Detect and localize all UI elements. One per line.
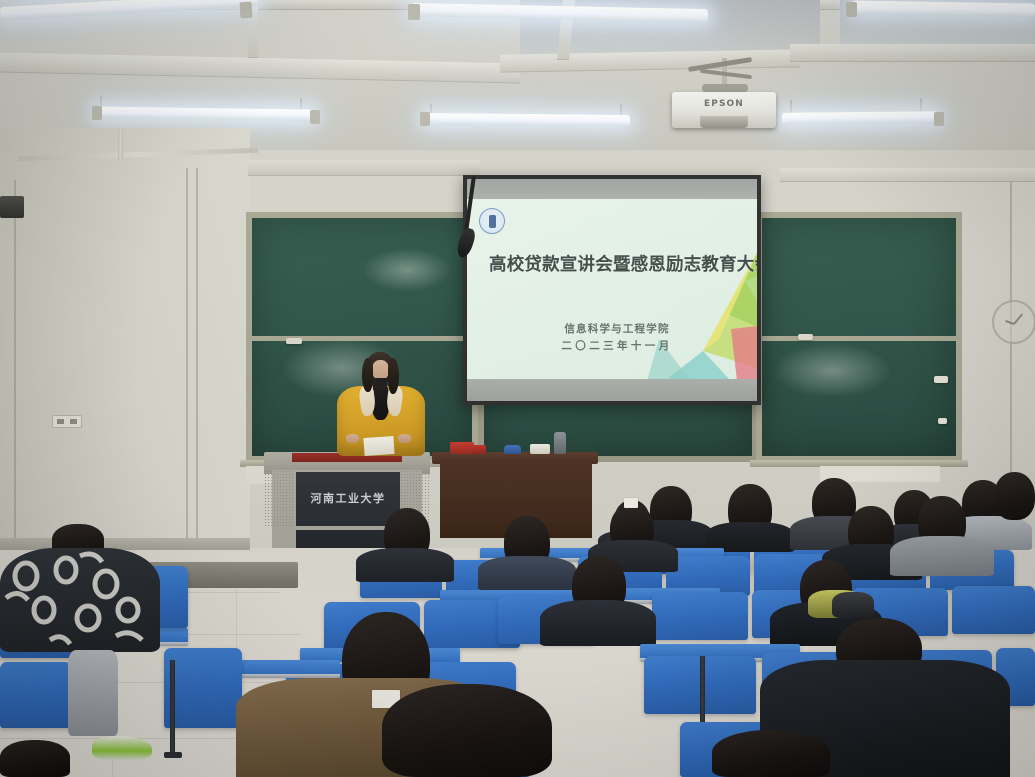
presenter-hand-left (346, 434, 359, 443)
fluorescent-tube-icon (782, 111, 938, 124)
left-wall (0, 128, 250, 598)
university-crest-icon (479, 208, 505, 234)
chalk-eraser-icon (286, 338, 302, 344)
desk-item-water-bottle (554, 432, 566, 454)
seat-row1 (0, 662, 72, 728)
jacket-pattern (0, 548, 160, 652)
podium-university-name: 河南工业大学 (296, 490, 400, 506)
chalk-eraser-icon (934, 376, 948, 383)
presenter-hand-right (398, 434, 411, 443)
seat-row3 (952, 586, 1035, 634)
wall-speaker (0, 196, 24, 218)
chalk-eraser-icon (798, 334, 813, 340)
presentation-slide: 高校贷款宣讲会暨感恩励志教育大会 信息科学与工程学院 二〇二三年十一月 (467, 199, 757, 379)
projector: EPSON (672, 92, 776, 128)
screen-bottom-band (467, 379, 757, 401)
chalk-eraser-icon (938, 418, 947, 424)
hair-clip-icon (624, 498, 638, 508)
presenter-hair-right (388, 358, 399, 394)
presenter-notes (363, 436, 394, 456)
podium-nameplate: 河南工业大学 (296, 472, 400, 526)
seat-row1 (164, 648, 242, 728)
seat-row3 (652, 592, 748, 640)
desk-item-white-box (530, 444, 550, 454)
podium-speaker-grill-left (264, 470, 294, 526)
projection-screen: 高校贷款宣讲会暨感恩励志教育大会 信息科学与工程学院 二〇二三年十一月 (463, 175, 761, 405)
fluorescent-tube-icon (96, 106, 314, 120)
student-trousers (68, 650, 118, 736)
power-outlet (52, 415, 82, 428)
slide-decoration (607, 221, 757, 379)
wall-clock-icon (992, 300, 1035, 344)
presenter-face (372, 360, 389, 380)
fluorescent-tube-icon (424, 113, 630, 126)
presenter-neck (373, 378, 387, 390)
presenter-hair-left (362, 358, 373, 392)
desk-item-red-box (450, 442, 474, 454)
slide-organization: 信息科学与工程学院 (537, 321, 697, 336)
bag (832, 592, 874, 618)
lecture-hall-photo: EPSON (0, 0, 1035, 777)
slide-title: 高校贷款宣讲会暨感恩励志教育大会 (489, 251, 747, 276)
slide-date: 二〇二三年十一月 (537, 338, 697, 353)
desk-item-red-box-2 (472, 445, 486, 454)
projector-lens (700, 116, 748, 128)
sneaker (92, 736, 152, 760)
desk-item-blue-cap (504, 445, 521, 454)
projector-brand-label: EPSON (672, 99, 776, 109)
screen-top-band (467, 179, 757, 199)
